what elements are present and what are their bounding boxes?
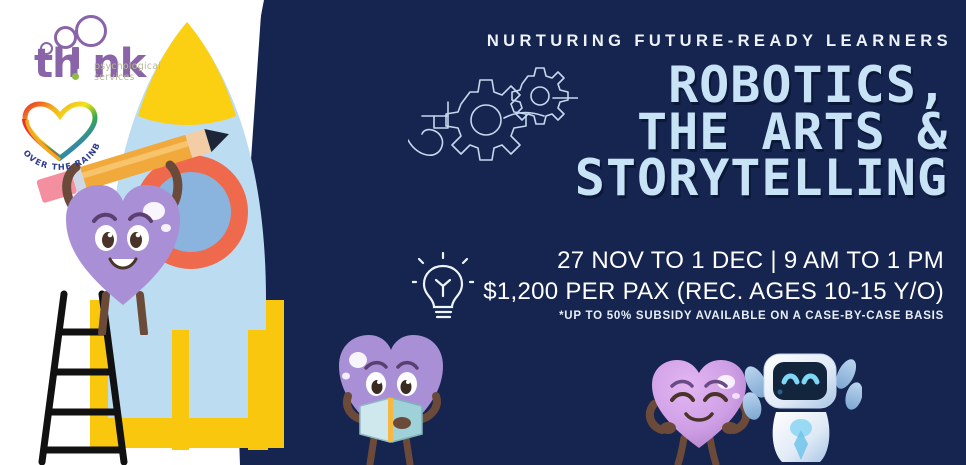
event-price-age: $1,200 PER PAX (REC. AGES 10-15 Y/O) <box>0 277 944 308</box>
headline-line-1: ROBOTICS, <box>0 62 948 109</box>
headline-line-3: STORYTELLING <box>0 155 948 202</box>
event-details: 27 NOV TO 1 DEC | 9 AM TO 1 PM $1,200 PE… <box>0 246 944 307</box>
robot-character <box>742 348 862 465</box>
tagline: NURTURING FUTURE-READY LEARNERS <box>0 32 952 51</box>
subsidy-footnote: *UP TO 50% SUBSIDY AVAILABLE ON A CASE-B… <box>0 310 944 322</box>
event-date-time: 27 NOV TO 1 DEC | 9 AM TO 1 PM <box>0 246 944 277</box>
promo-banner: think psychological services <box>0 0 966 465</box>
headline: ROBOTICS, THE ARTS & STORYTELLING <box>0 62 948 202</box>
heart-character-reading <box>330 318 452 465</box>
